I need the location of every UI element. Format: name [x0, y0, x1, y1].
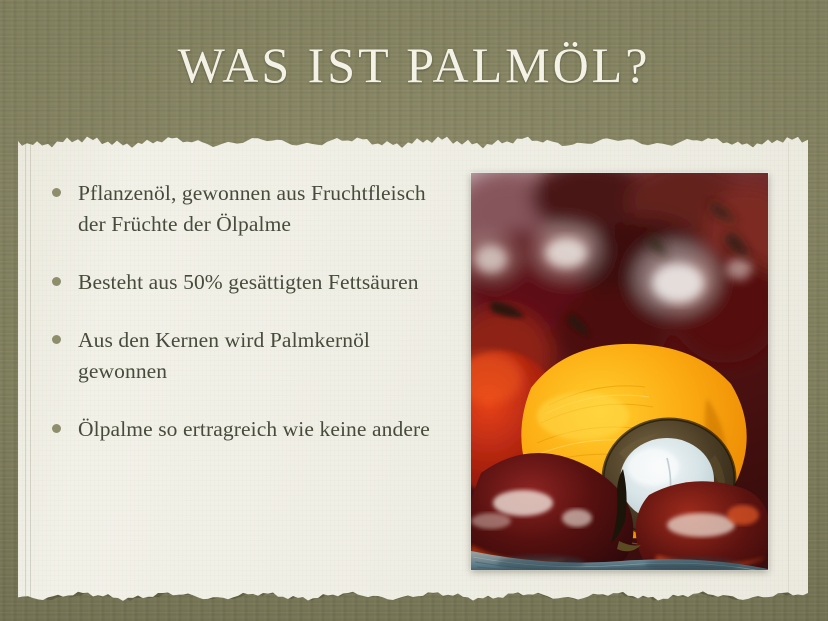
list-item: Ölpalme so ertragreich wie keine andere: [52, 414, 447, 445]
paper-fold-line: [25, 142, 26, 600]
page-title: WAS IST PALMÖL?: [0, 34, 828, 96]
bullet-dot-icon: [52, 335, 61, 344]
list-item-label: Pflanzenöl, gewonnen aus Fruchtfleisch d…: [78, 178, 447, 240]
list-item: Aus den Kernen wird Palmkernöl gewonnen: [52, 325, 447, 387]
list-item: Pflanzenöl, gewonnen aus Fruchtfleisch d…: [52, 178, 447, 240]
bullet-dot-icon: [52, 277, 61, 286]
slide: WAS IST PALMÖL? Pflanzenöl, gewonnen aus…: [0, 0, 828, 621]
list-item-label: Ölpalme so ertragreich wie keine andere: [78, 414, 430, 445]
bullet-dot-icon: [52, 188, 61, 197]
bullet-dot-icon: [52, 424, 61, 433]
berry-maroon-right: [636, 481, 768, 570]
palm-fruit-illustration: [471, 173, 768, 570]
palm-fruit-photo: [471, 173, 768, 570]
list-item: Besteht aus 50% gesättigten Fettsäuren: [52, 267, 447, 298]
list-item-label: Aus den Kernen wird Palmkernöl gewonnen: [78, 325, 447, 387]
bullet-list: Pflanzenöl, gewonnen aus Fruchtfleisch d…: [52, 178, 447, 445]
paper-fold-line: [788, 142, 789, 600]
paper-fold-line: [30, 142, 31, 600]
list-item-label: Besteht aus 50% gesättigten Fettsäuren: [78, 267, 419, 298]
